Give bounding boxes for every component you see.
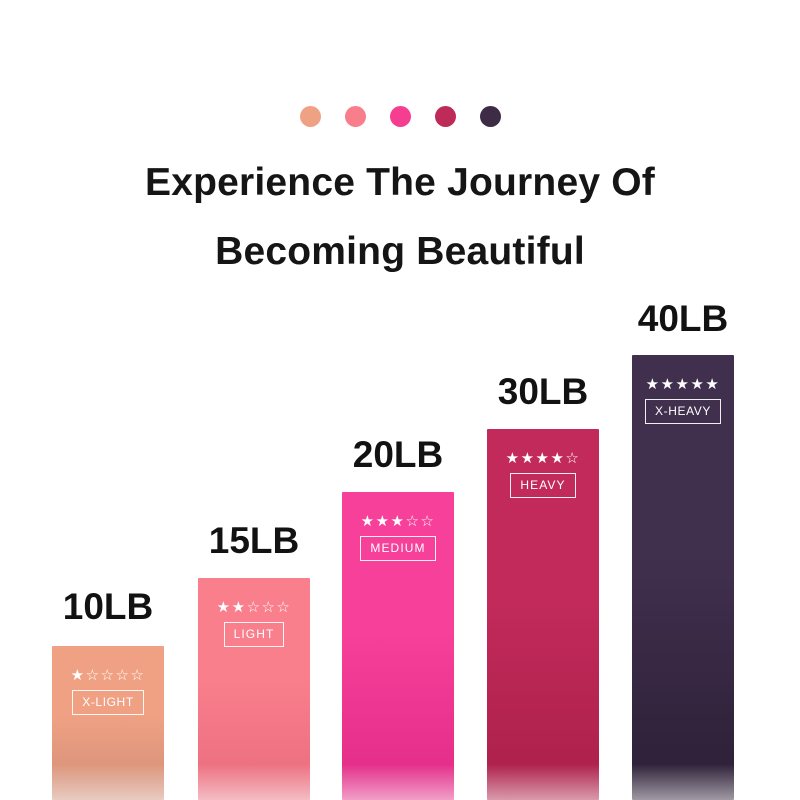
poster-canvas: Experience The Journey Of Becoming Beaut… — [0, 0, 800, 800]
bar-10lb[interactable] — [52, 646, 164, 800]
bar-20lb[interactable] — [342, 492, 454, 800]
bar-value-label-15lb: 15LB — [209, 522, 299, 559]
bar-group-30lb[interactable]: 30LB★★★★☆HEAVY — [487, 0, 599, 800]
bar-group-15lb[interactable]: 15LB★★☆☆☆LIGHT — [198, 0, 310, 800]
resistance-bar-chart: 10LB★☆☆☆☆X-LIGHT15LB★★☆☆☆LIGHT20LB★★★☆☆M… — [0, 0, 800, 800]
bar-value-label-10lb: 10LB — [63, 588, 153, 625]
bar-40lb[interactable] — [632, 355, 734, 800]
bar-30lb[interactable] — [487, 429, 599, 800]
bar-value-label-20lb: 20LB — [353, 436, 443, 473]
bar-value-label-30lb: 30LB — [498, 373, 588, 410]
bar-group-10lb[interactable]: 10LB★☆☆☆☆X-LIGHT — [52, 0, 164, 800]
bar-15lb[interactable] — [198, 578, 310, 800]
bar-group-20lb[interactable]: 20LB★★★☆☆MEDIUM — [342, 0, 454, 800]
bar-group-40lb[interactable]: 40LB★★★★★X-HEAVY — [632, 0, 734, 800]
bar-value-label-40lb: 40LB — [638, 300, 728, 337]
